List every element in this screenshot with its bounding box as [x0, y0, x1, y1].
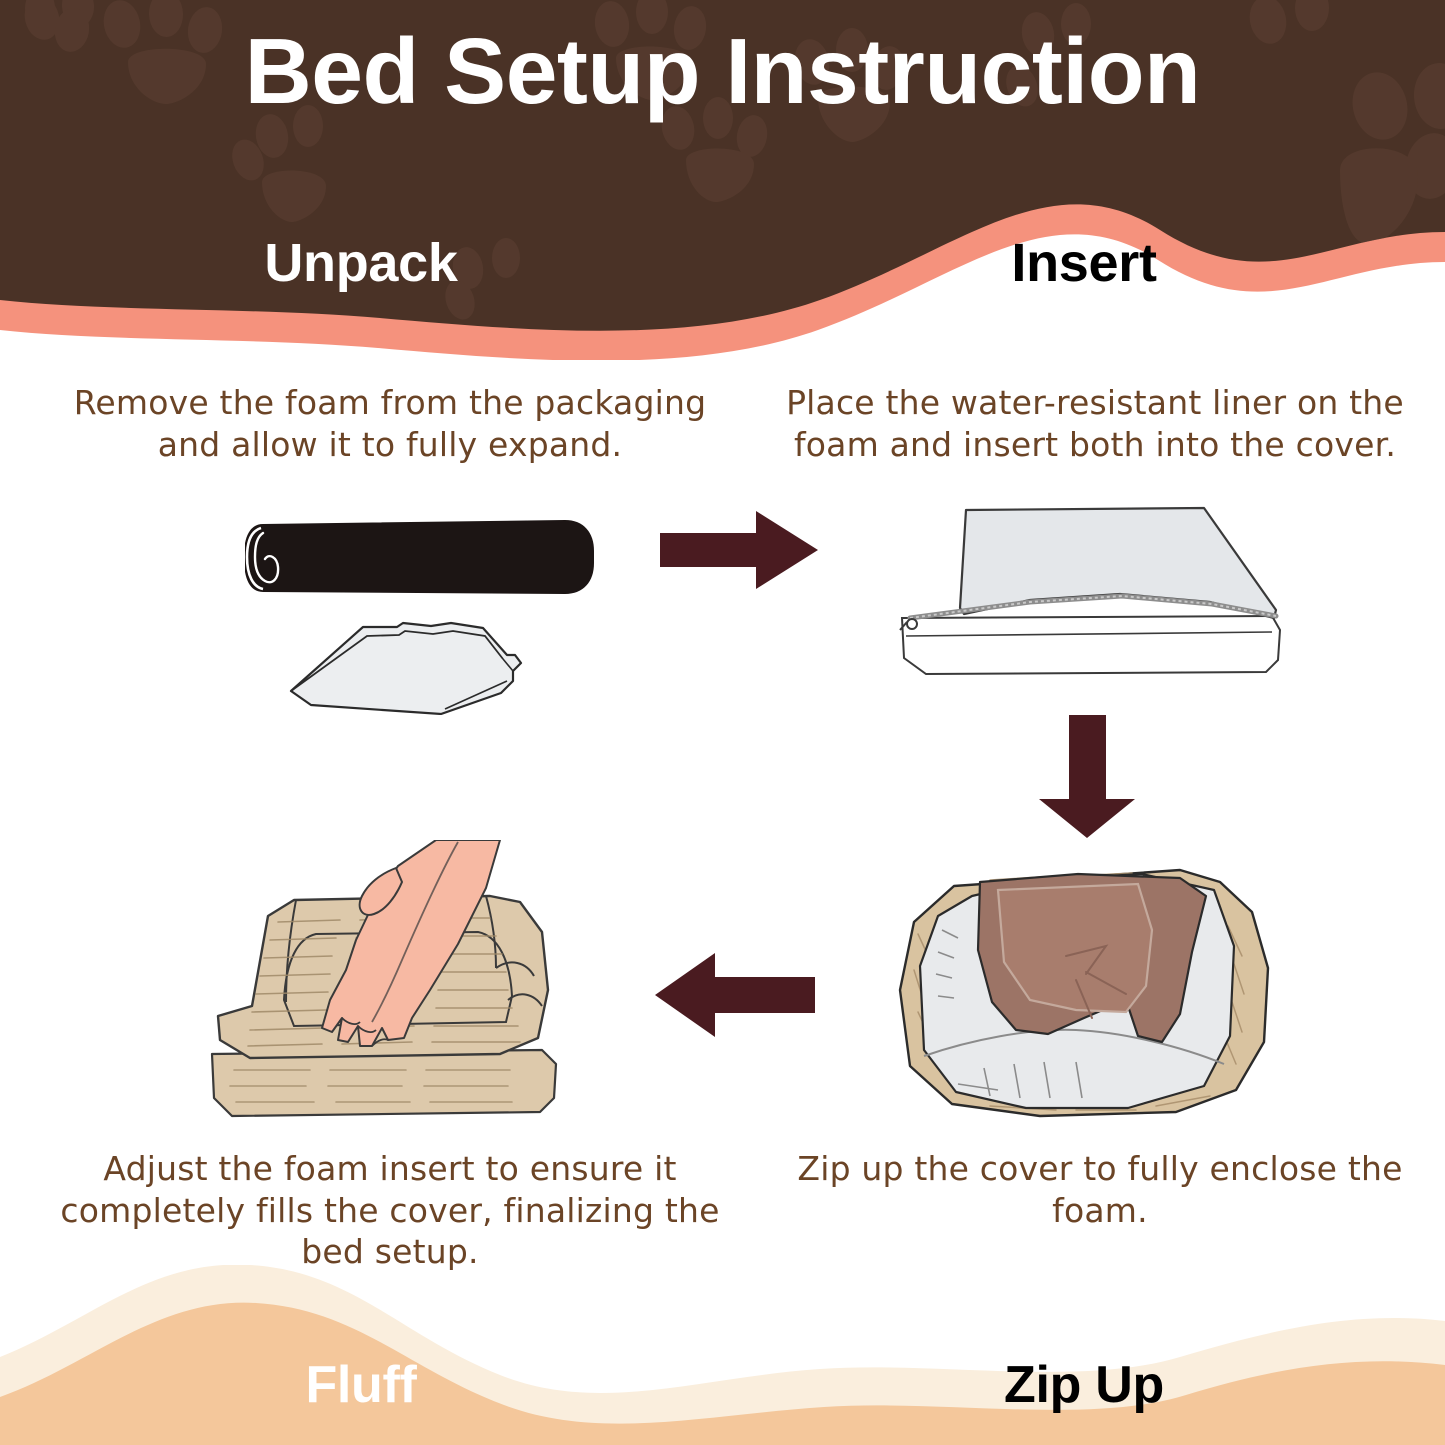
caption-fluff: Adjust the foam insert to ensure it comp…	[60, 1148, 720, 1273]
bed-base-icon	[212, 1050, 556, 1116]
instruction-poster: Bed Setup Instruction Unpack Insert Remo…	[0, 0, 1445, 1445]
section-label-unpack: Unpack	[0, 232, 722, 294]
section-label-zip-up: Zip Up	[723, 1355, 1445, 1415]
arrow-down-icon	[1025, 715, 1150, 840]
figure-hand-pressing-bed	[190, 840, 610, 1135]
figure-open-cover-with-liner	[880, 860, 1300, 1125]
rolled-foam-icon	[245, 521, 593, 593]
page-title: Bed Setup Instruction	[0, 18, 1445, 125]
section-label-insert: Insert	[723, 232, 1445, 294]
liner-sheet-icon	[291, 623, 521, 714]
caption-insert: Place the water-resistant liner on the f…	[775, 382, 1415, 465]
liner-top-icon	[900, 508, 1276, 630]
figure-rolled-foam-and-liner	[245, 495, 605, 715]
arrow-left-icon	[655, 945, 815, 1045]
arrow-right-icon	[660, 505, 820, 595]
caption-unpack: Remove the foam from the packaging and a…	[60, 382, 720, 465]
foam-base-icon	[902, 616, 1280, 674]
cover-inner-flap-icon	[978, 874, 1206, 1042]
caption-zip-up: Zip up the cover to fully enclose the fo…	[790, 1148, 1410, 1231]
section-label-fluff: Fluff	[0, 1355, 722, 1415]
figure-foam-with-liner-zipper	[880, 490, 1300, 680]
